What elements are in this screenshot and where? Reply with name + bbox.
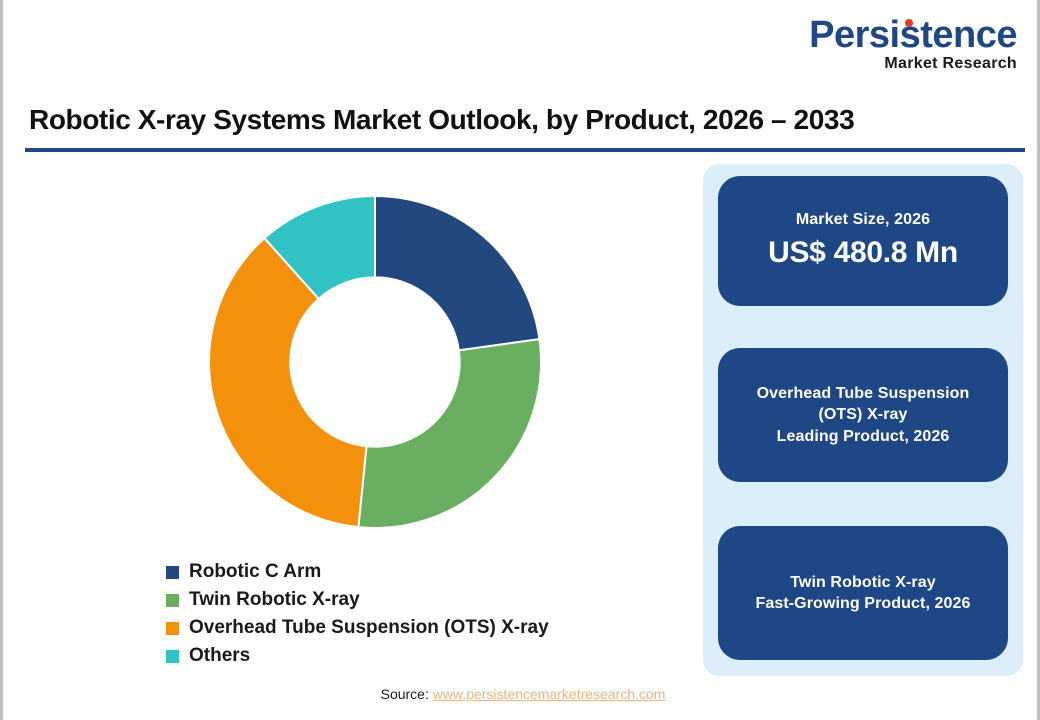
legend-item-twin-robotic-xray: Twin Robotic X-ray xyxy=(166,586,686,614)
legend-item-robotic-c-arm: Robotic C Arm xyxy=(166,558,686,586)
highlight-card-leading-product: Overhead Tube Suspension (OTS) X-ray Lea… xyxy=(718,348,1008,482)
legend-swatch-icon xyxy=(166,622,179,635)
title-divider xyxy=(25,148,1025,152)
legend-item-others: Others xyxy=(166,642,686,670)
legend-label: Others xyxy=(189,645,250,667)
legend-swatch-icon xyxy=(166,566,179,579)
donut-slice xyxy=(375,196,539,350)
card-line: Market Size, 2026 xyxy=(796,209,930,230)
infographic-page: Persistence Market Research Robotic X-ra… xyxy=(0,0,1040,720)
legend-swatch-icon xyxy=(166,594,179,607)
highlight-card-fast-growing-product: Twin Robotic X-ray Fast-Growing Product,… xyxy=(718,526,1008,660)
highlights-panel: Market Size, 2026 US$ 480.8 Mn Overhead … xyxy=(703,164,1023,676)
logo-name: Persistence xyxy=(809,14,1017,56)
page-title: Robotic X-ray Systems Market Outlook, by… xyxy=(29,104,969,136)
card-line: Leading Product, 2026 xyxy=(777,426,950,447)
card-line: (OTS) X-ray xyxy=(818,404,907,425)
source-label: Source: xyxy=(381,686,429,702)
legend-label: Robotic C Arm xyxy=(189,561,321,583)
legend-swatch-icon xyxy=(166,650,179,663)
donut-chart-svg xyxy=(189,176,561,548)
chart-legend: Robotic C Arm Twin Robotic X-ray Overhea… xyxy=(166,558,686,670)
card-highlight-value: US$ 480.8 Mn xyxy=(768,233,958,273)
source-note: Source: www.persistencemarketresearch.co… xyxy=(3,686,1040,702)
highlight-card-market-size: Market Size, 2026 US$ 480.8 Mn xyxy=(718,176,1008,306)
source-link[interactable]: www.persistencemarketresearch.com xyxy=(433,686,666,702)
legend-label: Overhead Tube Suspension (OTS) X-ray xyxy=(189,617,549,639)
legend-item-ots-xray: Overhead Tube Suspension (OTS) X-ray xyxy=(166,614,686,642)
company-logo: Persistence Market Research xyxy=(787,16,1017,72)
card-line: Fast-Growing Product, 2026 xyxy=(755,593,970,614)
donut-chart xyxy=(189,176,561,548)
card-line: Overhead Tube Suspension xyxy=(757,383,970,404)
legend-label: Twin Robotic X-ray xyxy=(189,589,360,611)
card-line: Twin Robotic X-ray xyxy=(790,572,936,593)
donut-slice xyxy=(358,339,541,528)
logo-tagline: Market Research xyxy=(787,56,1017,72)
logo-wordmark: Persistence xyxy=(809,16,1017,54)
